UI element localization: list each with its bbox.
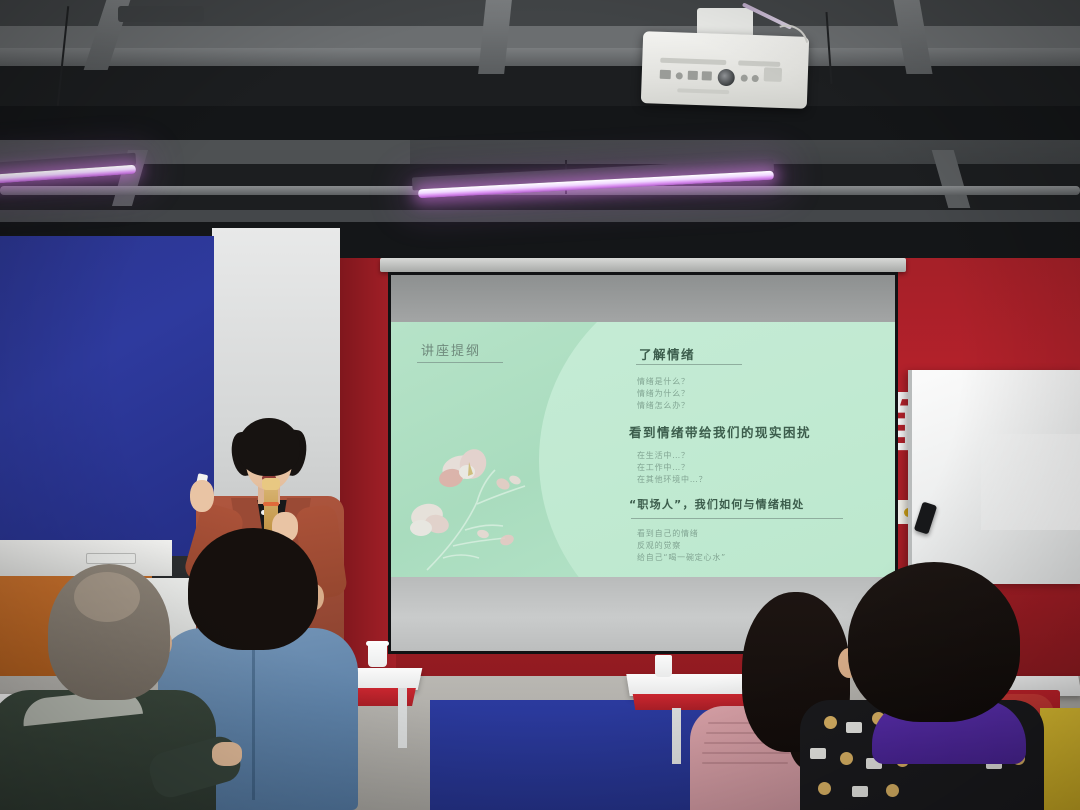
slide-heading-2: 看到情绪带给我们的现实困扰 — [629, 422, 811, 441]
wall-whiteboard[interactable] — [908, 370, 1080, 584]
slide-rule-3 — [631, 518, 843, 519]
screen-blank-top — [391, 275, 895, 322]
slide-bullet-2-1: 在生活中…？ — [637, 450, 690, 461]
red-wall-shadow — [336, 258, 396, 688]
desk-leg-right — [672, 708, 681, 764]
slide-bullet-3-2: 反观的觉察 — [637, 540, 681, 551]
plum-blossom-illustration — [407, 442, 567, 572]
presentation-slide: 讲座提纲 了解情绪 情绪是什么？ 情绪为什么？ 情绪怎么办？ 看到情绪带给我们的… — [391, 322, 895, 577]
speaker-hair — [238, 418, 300, 476]
paper-cup-right[interactable] — [655, 655, 672, 677]
speaker-hand-left — [190, 480, 214, 512]
slide-bullet-1-1: 情绪是什么？ — [637, 376, 690, 387]
slide-bullet-1-2: 情绪为什么？ — [637, 388, 690, 399]
lecture-hall-photo: 为民收税 面 讲座提纲 了解情绪 情绪是什么？ 情绪为什么？ 情绪怎么办？ 看到… — [0, 0, 1080, 810]
slide-heading-3: “职场人”，我们如何与情绪相处 — [629, 496, 804, 512]
bear-hoodie-head — [848, 562, 1020, 722]
projection-screen: 讲座提纲 了解情绪 情绪是什么？ 情绪为什么？ 情绪怎么办？ 看到情绪带给我们的… — [391, 275, 895, 651]
slide-arc-decoration — [539, 322, 895, 577]
blue-banner-wall: 为民收税 — [0, 236, 214, 556]
shirt-seam — [252, 640, 255, 800]
slide-bullet-3-1: 看到自己的情绪 — [637, 528, 699, 539]
blue-shirt-head — [188, 528, 318, 650]
slide-bullet-2-3: 在其他环境中…？ — [637, 474, 707, 485]
cabinet-handle[interactable] — [86, 553, 136, 564]
slide-header-rule — [417, 362, 503, 363]
microphone-band — [263, 502, 279, 506]
ceiling — [0, 0, 1080, 268]
desk-leg-left-2 — [398, 688, 407, 748]
slide-heading-1: 了解情绪 — [639, 344, 695, 363]
green-sweater-hand — [212, 742, 242, 766]
slide-bullet-2-2: 在工作中…？ — [637, 462, 690, 473]
microphone-head — [262, 478, 280, 490]
slide-header: 讲座提纲 — [421, 340, 481, 359]
slide-rule-1 — [636, 364, 742, 365]
slide-bullet-1-3: 情绪怎么办？ — [637, 400, 690, 411]
attendee-yellow-jacket — [1040, 708, 1080, 810]
green-sweater-head — [48, 564, 170, 700]
slide-bullet-3-3: 给自己“喝一碗定心水” — [637, 552, 726, 563]
screen-roller-housing — [380, 258, 906, 272]
paper-cup-left[interactable] — [368, 643, 387, 667]
whiteboard-glare — [981, 434, 1080, 530]
